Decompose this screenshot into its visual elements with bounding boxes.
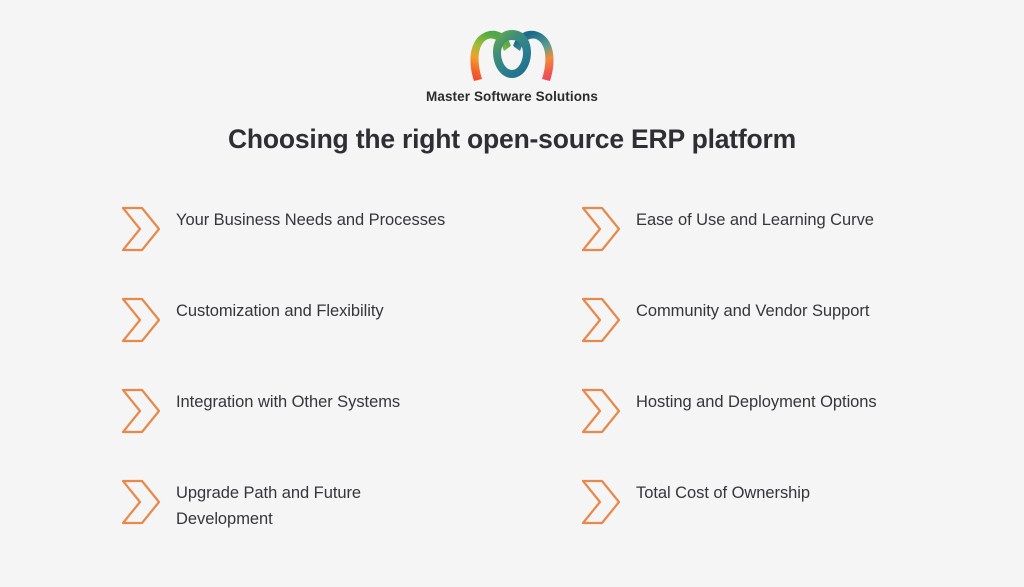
chevron-right-icon — [580, 477, 622, 527]
list-item: Customization and Flexibility — [120, 287, 580, 378]
list-item: Hosting and Deployment Options — [580, 378, 920, 469]
chevron-right-icon — [580, 295, 622, 345]
brand-block: Master Software Solutions — [0, 24, 1024, 105]
list-item: Ease of Use and Learning Curve — [580, 196, 920, 287]
chevron-right-icon — [120, 295, 162, 345]
list-item-label: Community and Vendor Support — [636, 287, 869, 324]
list-item: Community and Vendor Support — [580, 287, 920, 378]
list-item: Total Cost of Ownership — [580, 469, 920, 560]
chevron-right-icon — [120, 477, 162, 527]
list-item: Your Business Needs and Processes — [120, 196, 580, 287]
chevron-right-icon — [580, 386, 622, 436]
list-item-label: Your Business Needs and Processes — [176, 196, 445, 233]
chevron-right-icon — [120, 386, 162, 436]
page-title: Choosing the right open-source ERP platf… — [0, 124, 1024, 156]
items-grid: Your Business Needs and Processes Ease o… — [120, 196, 920, 560]
brand-name: Master Software Solutions — [426, 90, 598, 105]
list-item: Upgrade Path and Future Development — [120, 469, 580, 560]
list-item-label: Ease of Use and Learning Curve — [636, 196, 874, 233]
slide-root: Master Software Solutions Choosing the r… — [0, 0, 1024, 587]
list-item: Integration with Other Systems — [120, 378, 580, 469]
chevron-right-icon — [580, 204, 622, 254]
interlocking-arches-logo-icon — [464, 24, 560, 84]
list-item-label: Customization and Flexibility — [176, 287, 384, 324]
list-item-label: Integration with Other Systems — [176, 378, 400, 415]
list-item-label: Total Cost of Ownership — [636, 469, 810, 506]
list-item-label: Upgrade Path and Future Development — [176, 469, 446, 532]
list-item-label: Hosting and Deployment Options — [636, 378, 877, 415]
chevron-right-icon — [120, 204, 162, 254]
